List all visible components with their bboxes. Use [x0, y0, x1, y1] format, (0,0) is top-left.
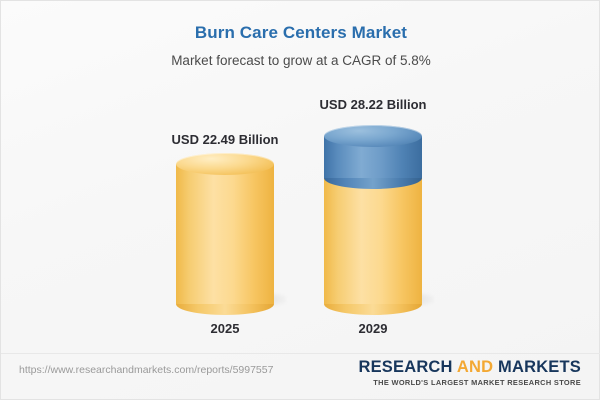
logo-word-markets: MARKETS [498, 358, 581, 376]
bar-cylinder-2029[interactable] [324, 125, 422, 304]
report-url[interactable]: https://www.researchandmarkets.com/repor… [19, 364, 273, 376]
logo-wordmark: RESEARCH AND MARKETS [358, 359, 581, 376]
logo-word-research: RESEARCH [358, 358, 452, 376]
research-and-markets-logo[interactable]: RESEARCH AND MARKETS THE WORLD'S LARGEST… [358, 359, 581, 387]
cylinder-top-ellipse [176, 153, 274, 175]
bar-value-label-2025: USD 22.49 Billion [125, 132, 325, 147]
category-label-2025: 2025 [175, 321, 275, 336]
cylinder-top-ellipse [324, 125, 422, 147]
bar-cylinder-2025[interactable] [176, 153, 274, 304]
logo-word-and: AND [457, 358, 493, 376]
bar-segment-base-2029 [324, 171, 422, 304]
cylinder-bar-chart: USD 22.49 Billion USD 28.22 Billion [1, 1, 600, 401]
bar-value-label-2029: USD 28.22 Billion [273, 97, 473, 112]
logo-tagline: THE WORLD'S LARGEST MARKET RESEARCH STOR… [358, 378, 581, 387]
bar-segment-growth-2029 [324, 136, 422, 178]
footer-divider [1, 353, 600, 354]
cylinder-body [324, 171, 422, 304]
category-label-2029: 2029 [323, 321, 423, 336]
cylinder-body [176, 164, 274, 304]
infographic-card: Burn Care Centers Market Market forecast… [0, 0, 600, 400]
bar-segment-base-2025 [176, 164, 274, 304]
